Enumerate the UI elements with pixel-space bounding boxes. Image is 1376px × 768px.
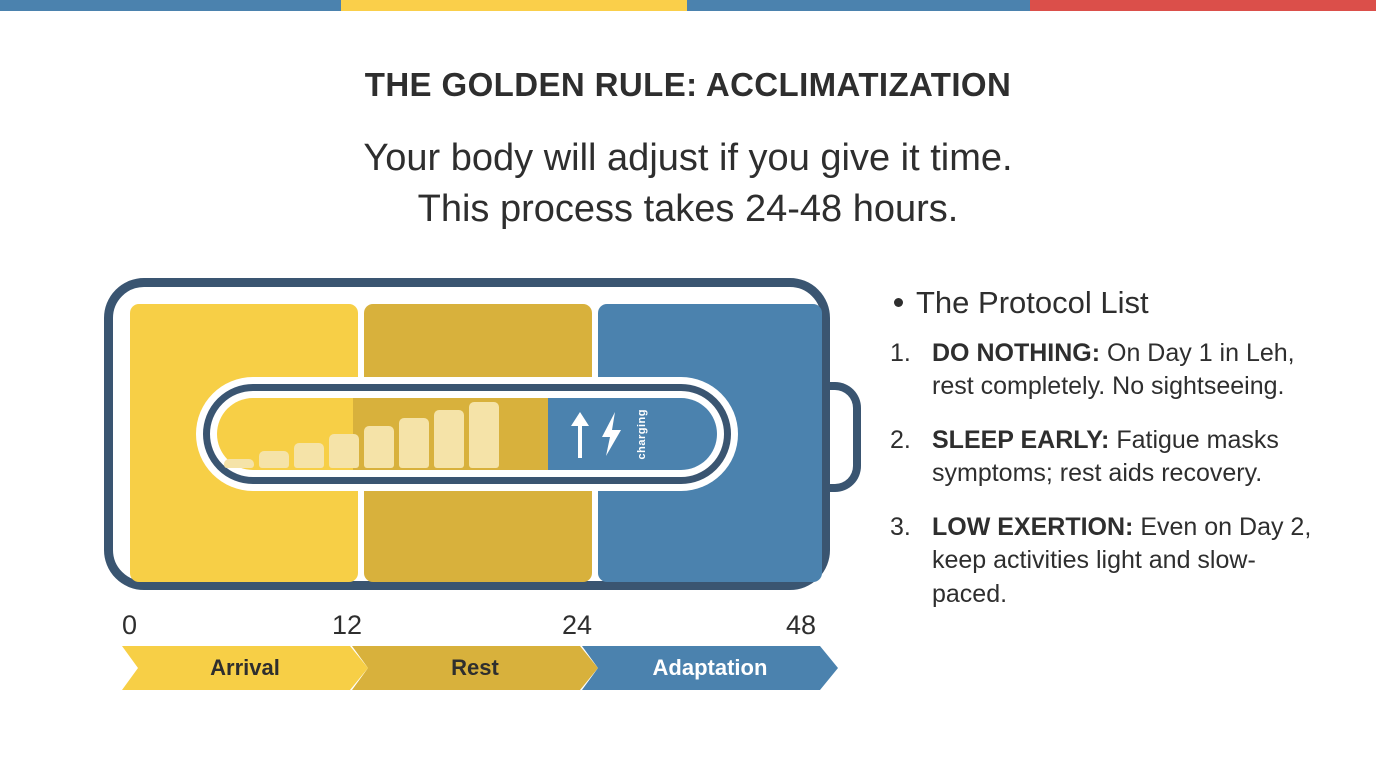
charge-bar [469, 402, 499, 468]
top-accent-bar [0, 0, 1376, 11]
charge-gauge: charging [203, 384, 731, 484]
list-item: 1. DO NOTHING: On Day 1 in Leh, rest com… [890, 337, 1320, 404]
charge-level-bars [224, 402, 499, 468]
top-bar-segment-yellow [341, 0, 687, 11]
scale-tick-0: 0 [122, 610, 137, 641]
charge-bar [259, 451, 289, 468]
lightning-bolt-icon [598, 410, 624, 458]
top-bar-segment-blue-left [0, 0, 341, 11]
list-item-number: 1. [890, 337, 911, 371]
phase-rest: Rest [352, 646, 598, 690]
list-item-term: DO NOTHING: [932, 339, 1100, 367]
scale-tick-24: 24 [562, 610, 592, 641]
top-bar-segment-blue-right [687, 0, 1030, 11]
battery-figure: charging 0 12 24 48 Arrival Rest A [104, 278, 874, 690]
charge-bar [434, 410, 464, 468]
charging-indicator: charging [570, 398, 648, 470]
hour-scale: 0 12 24 48 [104, 610, 830, 644]
list-item: 3. LOW EXERTION: Even on Day 2, keep act… [890, 511, 1320, 612]
charge-bar [329, 434, 359, 468]
page-title: THE GOLDEN RULE: ACCLIMATIZATION [0, 66, 1376, 104]
up-arrow-icon [570, 410, 590, 458]
list-item-number: 2. [890, 424, 911, 458]
list-item: 2. SLEEP EARLY: Fatigue masks symptoms; … [890, 424, 1320, 491]
gauge-segment-adaptation: charging [548, 398, 717, 470]
phase-adaptation-label: Adaptation [653, 655, 768, 681]
charge-bar [224, 459, 254, 468]
subtitle-line-1: Your body will adjust if you give it tim… [0, 133, 1376, 184]
scale-tick-48: 48 [786, 610, 816, 641]
page-subtitle: Your body will adjust if you give it tim… [0, 133, 1376, 234]
protocol-panel: The Protocol List 1. DO NOTHING: On Day … [890, 284, 1320, 631]
protocol-heading: The Protocol List [890, 284, 1320, 323]
phase-rest-label: Rest [451, 655, 499, 681]
phase-chevron-bar: Arrival Rest Adaptation [122, 646, 822, 690]
bullet-icon [894, 298, 903, 307]
phase-arrival-label: Arrival [210, 655, 280, 681]
top-bar-segment-red [1030, 0, 1376, 11]
subtitle-line-2: This process takes 24-48 hours. [0, 184, 1376, 235]
scale-tick-12: 12 [332, 610, 362, 641]
charge-bar [399, 418, 429, 468]
phase-adaptation: Adaptation [582, 646, 838, 690]
list-item-number: 3. [890, 511, 911, 545]
protocol-list: 1. DO NOTHING: On Day 1 in Leh, rest com… [890, 337, 1320, 612]
charging-label: charging [636, 409, 648, 459]
protocol-heading-label: The Protocol List [916, 285, 1149, 320]
list-item-term: LOW EXERTION: [932, 513, 1133, 541]
list-item-term: SLEEP EARLY: [932, 426, 1109, 454]
charge-bar [364, 426, 394, 468]
charge-bar [294, 443, 324, 468]
phase-arrival: Arrival [122, 646, 368, 690]
